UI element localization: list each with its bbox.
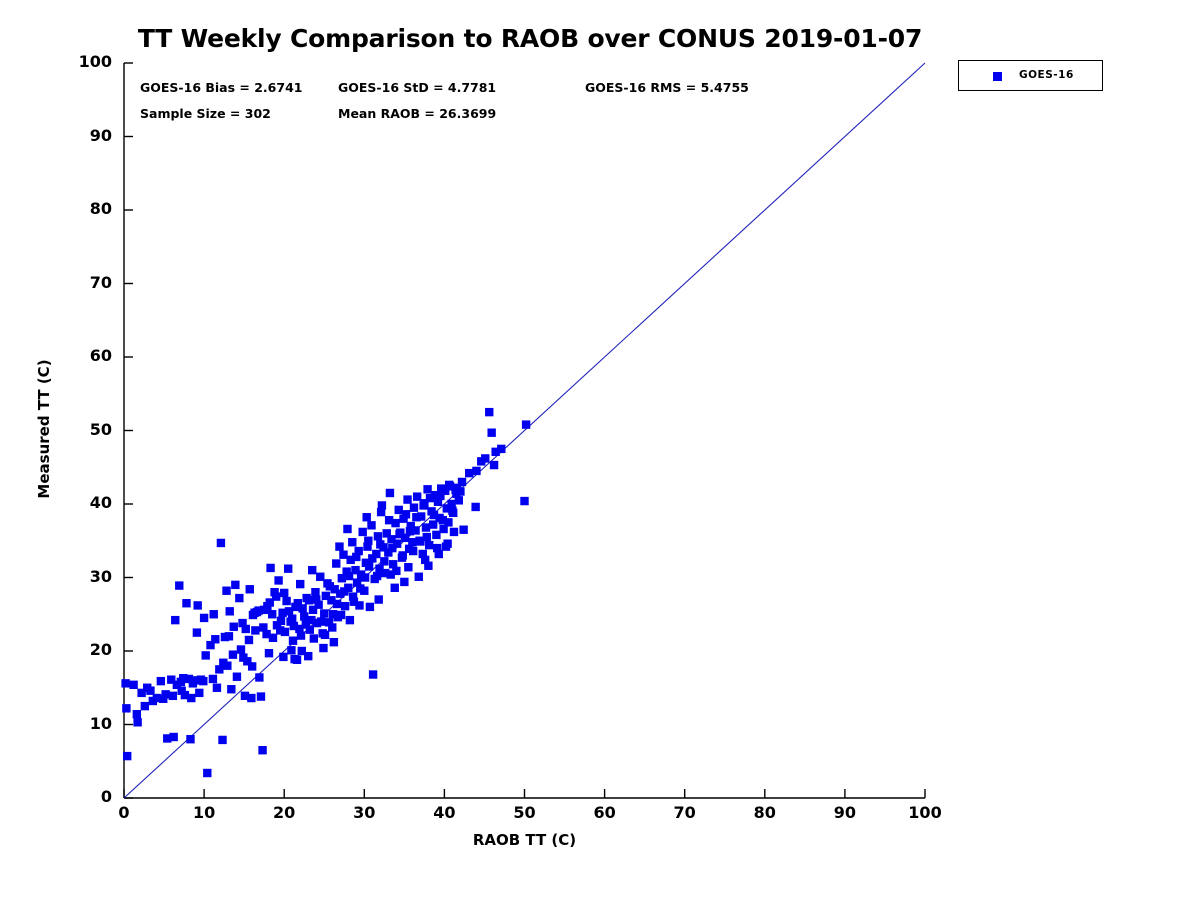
scatter-point: [177, 686, 185, 694]
scatter-point: [481, 454, 489, 462]
scatter-point: [203, 769, 211, 777]
scatter-point: [276, 626, 284, 634]
scatter-point: [426, 494, 434, 502]
scatter-point: [409, 547, 417, 555]
scatter-point: [490, 461, 498, 469]
x-tick-label-10: 100: [895, 803, 955, 822]
scatter-point: [277, 617, 285, 625]
scatter-point: [422, 523, 430, 531]
scatter-point: [280, 589, 288, 597]
y-tick-label-8: 80: [52, 199, 112, 218]
y-tick-label-1: 10: [52, 714, 112, 733]
legend-label-goes-16: GOES-16: [1019, 69, 1099, 81]
scatter-point: [400, 578, 408, 586]
scatter-point: [458, 478, 466, 486]
scatter-point: [210, 610, 218, 618]
scatter-point: [245, 636, 253, 644]
scatter-point: [317, 617, 325, 625]
scatter-point: [448, 506, 456, 514]
scatter-point: [337, 611, 345, 619]
scatter-point: [319, 644, 327, 652]
x-tick-label-6: 60: [575, 803, 635, 822]
scatter-point: [359, 528, 367, 536]
scatter-point: [373, 572, 381, 580]
scatter-point: [213, 684, 221, 692]
scatter-point: [412, 513, 420, 521]
scatter-point: [421, 556, 429, 564]
scatter-point: [328, 623, 336, 631]
scatter-point: [211, 635, 219, 643]
scatter-point: [287, 646, 295, 654]
scatter-point: [137, 689, 145, 697]
x-tick-label-9: 90: [815, 803, 875, 822]
scatter-point: [395, 506, 403, 514]
y-tick-label-0: 0: [52, 787, 112, 806]
scatter-point: [423, 533, 431, 541]
scatter-point: [439, 516, 447, 524]
scatter-point: [435, 550, 443, 558]
scatter-point: [406, 527, 414, 535]
scatter-point: [410, 503, 418, 511]
scatter-point: [302, 620, 310, 628]
scatter-point: [285, 607, 293, 615]
scatter-point: [320, 609, 328, 617]
scatter-point: [343, 525, 351, 533]
scatter-point: [300, 612, 308, 620]
scatter-point: [182, 599, 190, 607]
scatter-point: [258, 746, 266, 754]
scatter-point: [218, 736, 226, 744]
scatter-point: [367, 521, 375, 529]
scatter-point: [413, 492, 421, 500]
scatter-point: [193, 601, 201, 609]
scatter-point: [231, 581, 239, 589]
scatter-point: [395, 530, 403, 538]
x-tick-label-7: 70: [655, 803, 715, 822]
x-tick-label-3: 30: [334, 803, 394, 822]
x-tick-label-8: 80: [735, 803, 795, 822]
scatter-point: [141, 702, 149, 710]
scatter-point: [238, 619, 246, 627]
scatter-point: [333, 600, 341, 608]
scatter-point: [465, 469, 473, 477]
scatter-point: [340, 587, 348, 595]
x-tick-label-1: 10: [174, 803, 234, 822]
scatter-point: [445, 481, 453, 489]
y-tick-label-7: 70: [52, 273, 112, 292]
scatter-point: [352, 553, 360, 561]
scatter-point: [380, 557, 388, 565]
scatter-point: [255, 673, 263, 681]
scatter-point: [298, 647, 306, 655]
scatter-point: [288, 614, 296, 622]
scatter-point: [341, 602, 349, 610]
scatter-point: [348, 538, 356, 546]
scatter-point: [361, 573, 369, 581]
scatter-point: [402, 510, 410, 518]
scatter-point: [268, 610, 276, 618]
scatter-point: [388, 544, 396, 552]
scatter-point: [200, 614, 208, 622]
scatter-point: [225, 632, 233, 640]
scatter-point: [374, 532, 382, 540]
scatter-point: [169, 733, 177, 741]
scatter-point: [187, 694, 195, 702]
scatter-point: [346, 616, 354, 624]
scatter-point: [297, 631, 305, 639]
y-tick-label-6: 60: [52, 346, 112, 365]
scatter-point: [326, 582, 334, 590]
scatter-point: [419, 501, 427, 509]
scatter-point: [269, 634, 277, 642]
scatter-point: [522, 420, 530, 428]
scatter-point: [279, 653, 287, 661]
scatter-point: [229, 650, 237, 658]
scatter-point: [376, 540, 384, 548]
scatter-point: [272, 592, 280, 600]
reference-line-group: [124, 63, 925, 798]
scatter-point: [133, 710, 141, 718]
scatter-point: [296, 580, 304, 588]
scatter-point: [423, 485, 431, 493]
scatter-point: [339, 551, 347, 559]
scatter-point: [452, 490, 460, 498]
scatter-point: [235, 594, 243, 602]
scatter-point: [497, 445, 505, 453]
scatter-point: [257, 692, 265, 700]
scatter-point: [169, 692, 177, 700]
scatter-point: [330, 638, 338, 646]
scatter-point: [415, 573, 423, 581]
y-axis-label: Measured TT (C): [35, 329, 53, 529]
scatter-points: [121, 408, 530, 777]
scatter-point: [171, 616, 179, 624]
scatter-point: [149, 697, 157, 705]
scatter-point: [321, 631, 329, 639]
scatter-point: [356, 584, 364, 592]
scatter-point: [312, 595, 320, 603]
scatter-point: [472, 467, 480, 475]
scatter-point: [471, 503, 479, 511]
y-tick-label-5: 50: [52, 420, 112, 439]
scatter-point: [157, 677, 165, 685]
y-tick-label-10: 100: [52, 52, 112, 71]
one-to-one-line: [124, 63, 925, 798]
scatter-point: [355, 601, 363, 609]
scatter-point: [199, 677, 207, 685]
y-tick-label-9: 90: [52, 126, 112, 145]
scatter-point: [311, 588, 319, 596]
scatter-point: [364, 537, 372, 545]
scatter-point: [219, 659, 227, 667]
scatter-point: [259, 623, 267, 631]
scatter-point: [425, 541, 433, 549]
scatter-point: [222, 587, 230, 595]
scatter-point: [193, 628, 201, 636]
scatter-point: [217, 539, 225, 547]
scatter-point: [368, 554, 376, 562]
scatter-point: [520, 497, 528, 505]
scatter-point: [284, 564, 292, 572]
scatter-point: [274, 576, 282, 584]
scatter-point: [485, 408, 493, 416]
scatter-point: [487, 429, 495, 437]
scatter-point: [247, 694, 255, 702]
x-tick-label-2: 20: [254, 803, 314, 822]
scatter-point: [175, 581, 183, 589]
scatter-point: [133, 718, 141, 726]
scatter-point: [436, 492, 444, 500]
scatter-point: [123, 752, 131, 760]
scatter-point: [159, 695, 167, 703]
scatter-point: [369, 670, 377, 678]
x-tick-label-4: 40: [414, 803, 474, 822]
scatter-point: [122, 704, 130, 712]
x-tick-label-5: 50: [495, 803, 555, 822]
y-tick-label-2: 20: [52, 640, 112, 659]
scatter-point: [195, 689, 203, 697]
scatter-point: [399, 551, 407, 559]
scatter-point: [227, 685, 235, 693]
scatter-point: [308, 566, 316, 574]
scatter-point: [246, 585, 254, 593]
scatter-point: [129, 681, 137, 689]
scatter-point: [332, 559, 340, 567]
scatter-point: [365, 562, 373, 570]
scatter-point: [408, 538, 416, 546]
scatter-point: [282, 597, 290, 605]
scatter-point: [443, 539, 451, 547]
scatter-point: [378, 501, 386, 509]
scatter-point: [251, 626, 259, 634]
y-tick-label-4: 40: [52, 493, 112, 512]
scatter-point: [432, 531, 440, 539]
y-tick-label-3: 30: [52, 567, 112, 586]
scatter-point: [404, 563, 412, 571]
scatter-point: [430, 511, 438, 519]
scatter-point: [310, 634, 318, 642]
scatter-point: [294, 599, 302, 607]
scatter-point: [248, 662, 256, 670]
scatter-point: [459, 526, 467, 534]
scatter-point: [209, 675, 217, 683]
scatter-point: [290, 655, 298, 663]
scatter-point: [387, 570, 395, 578]
scatter-point: [230, 623, 238, 631]
legend[interactable]: GOES-16: [958, 60, 1103, 91]
x-axis-label: RAOB TT (C): [124, 831, 925, 849]
scatter-point: [121, 679, 129, 687]
scatter-point: [450, 528, 458, 536]
scatter-point: [289, 637, 297, 645]
scatter-point: [403, 495, 411, 503]
scatter-point: [349, 592, 357, 600]
scatter-point: [316, 573, 324, 581]
legend-swatch-goes-16: [993, 72, 1002, 81]
scatter-point: [186, 735, 194, 743]
chart-figure: TT Weekly Comparison to RAOB over CONUS …: [0, 0, 1200, 900]
scatter-point: [375, 595, 383, 603]
scatter-point: [226, 607, 234, 615]
scatter-point: [265, 649, 273, 657]
scatter-point: [266, 564, 274, 572]
scatter-point: [335, 542, 343, 550]
scatter-point: [202, 651, 210, 659]
scatter-point: [385, 516, 393, 524]
scatter-point: [345, 572, 353, 580]
scatter-point: [237, 645, 245, 653]
scatter-point: [305, 596, 313, 604]
scatter-point: [386, 489, 394, 497]
plot-area: [0, 0, 1200, 900]
scatter-point: [233, 673, 241, 681]
scatter-point: [363, 513, 371, 521]
scatter-point: [391, 584, 399, 592]
scatter-point: [366, 603, 374, 611]
